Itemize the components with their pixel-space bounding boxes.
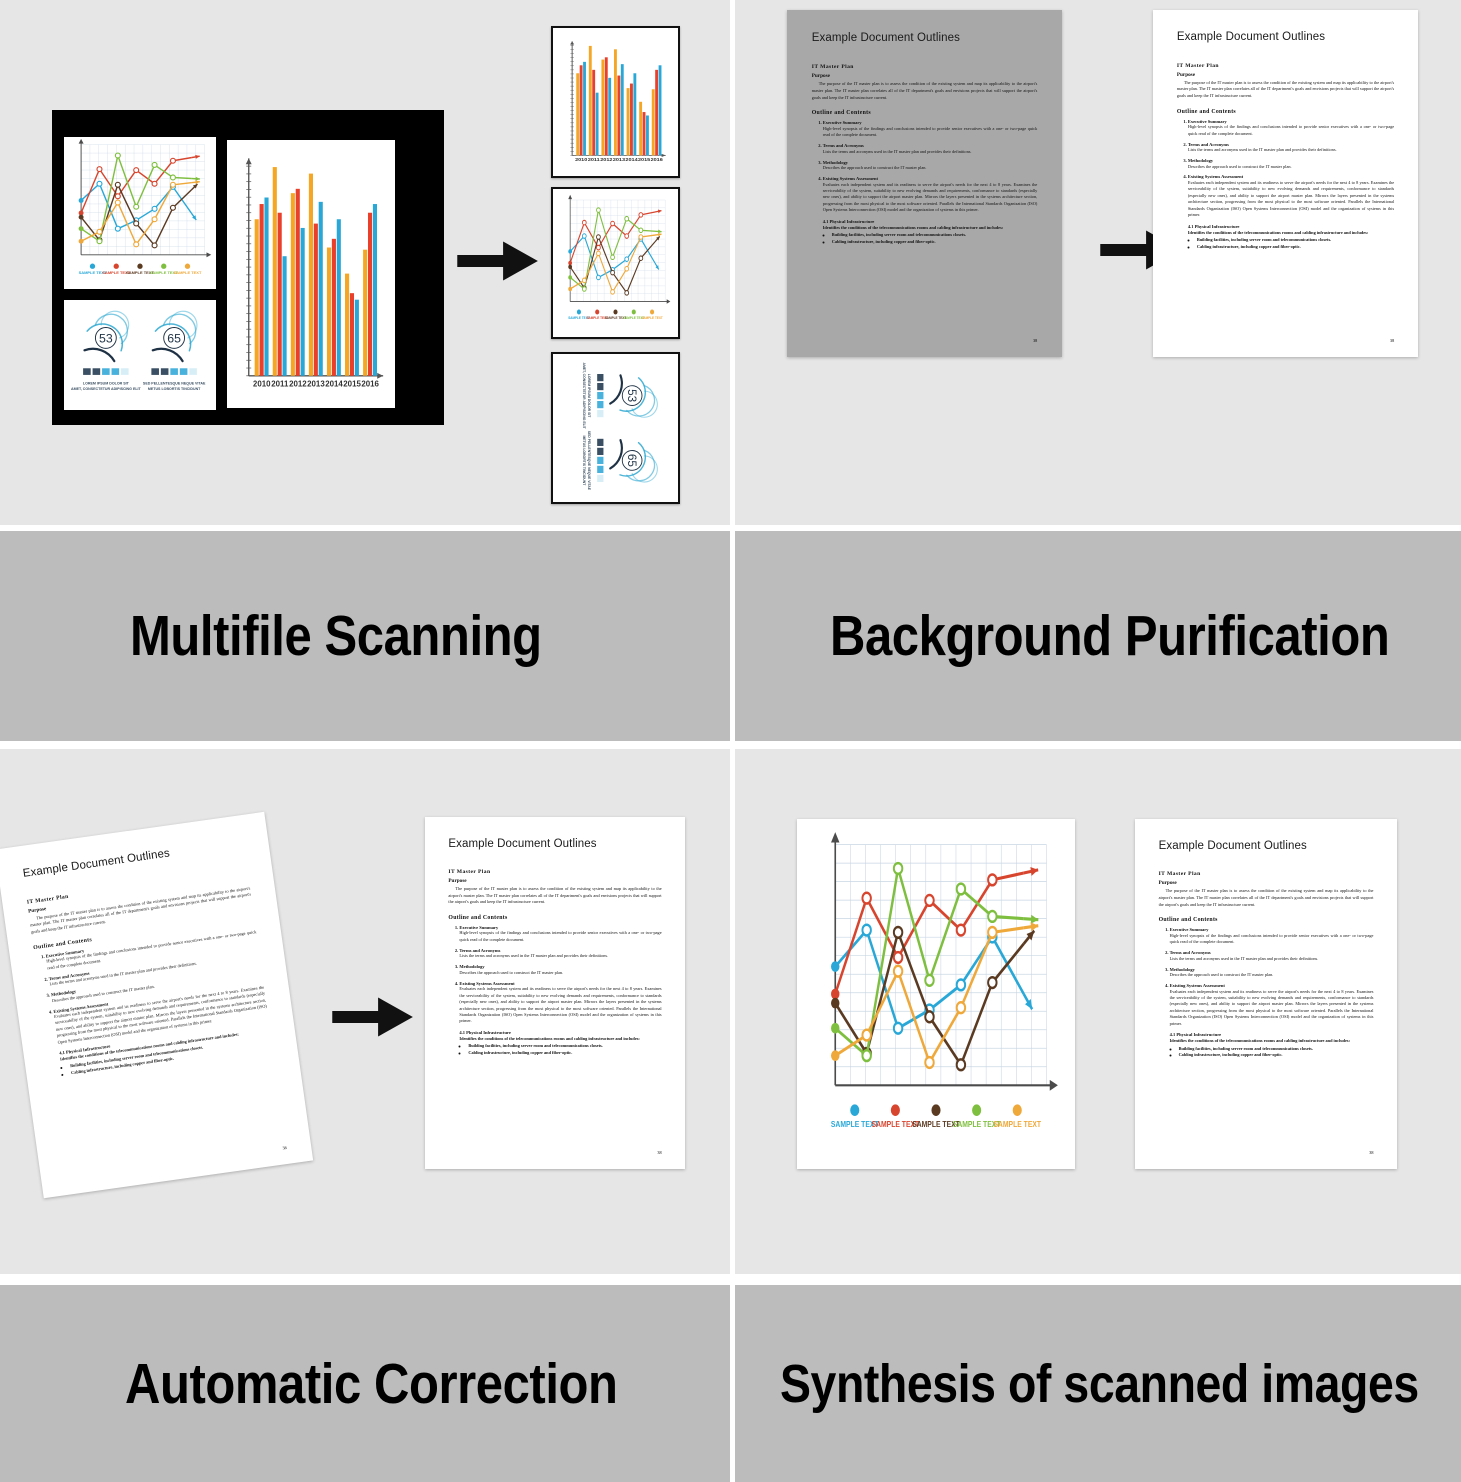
synthesis-line-chart-page[interactable]: SAMPLE TEXTSAMPLE TEXTSAMPLE TEXTSAMPLE … bbox=[797, 819, 1075, 1169]
caption-label: Automatic Correction bbox=[125, 1351, 618, 1417]
outline-item-body: Lists the terms and acronyms used in the… bbox=[1188, 147, 1394, 153]
svg-text:SAMPLE TEXT: SAMPLE TEXT bbox=[641, 316, 663, 320]
outline-item: Executive Summary High-level synopsis of… bbox=[1170, 927, 1374, 945]
outline-item-heading: Executive Summary bbox=[1170, 927, 1209, 932]
outline-item-body: Describes the approach used to construct… bbox=[459, 970, 661, 976]
outline-item: Methodology Describes the approach used … bbox=[1188, 158, 1394, 170]
outline-item-body: Describes the approach used to construct… bbox=[1188, 164, 1394, 170]
process-arrow bbox=[330, 989, 416, 1045]
caption-label: Multifile Scanning bbox=[130, 603, 542, 669]
outline-item: Terms and Acronyms Lists the terms and a… bbox=[459, 948, 661, 960]
doc-purpose-body: The purpose of the IT master plan is to … bbox=[1177, 80, 1394, 100]
subsection-body: Identifies the conditions of the telecom… bbox=[1188, 230, 1394, 236]
bar-chart: 2010201120122013201420152016 bbox=[227, 140, 395, 408]
panel-image-area: SAMPLE TEXTSAMPLE TEXTSAMPLE TEXTSAMPLE … bbox=[0, 0, 730, 525]
svg-text:2011: 2011 bbox=[588, 158, 600, 163]
doc-purpose-heading: Purpose bbox=[812, 73, 1038, 79]
outline-item-body: Describes the approach used to construct… bbox=[823, 165, 1038, 171]
skewed-page[interactable]: Example Document Outlines IT Master Plan… bbox=[0, 812, 313, 1198]
outline-item-body: High-level synopsis of the findings and … bbox=[1170, 933, 1374, 946]
svg-text:SED PELLENTESQUE NEQUE VITAE: SED PELLENTESQUE NEQUE VITAE bbox=[143, 381, 206, 385]
subsection-bullets: Building facilities, including server ro… bbox=[1170, 1046, 1374, 1060]
svg-text:SED PELLENTESQUE NEQUE VITAE: SED PELLENTESQUE NEQUE VITAE bbox=[587, 431, 591, 491]
svg-text:LOREM IPSUM DOLOR SIT: LOREM IPSUM DOLOR SIT bbox=[83, 381, 130, 385]
doc-purpose-heading: Purpose bbox=[1159, 880, 1374, 886]
doc-outline-list: Executive Summary High-level synopsis of… bbox=[1177, 119, 1394, 251]
outline-item: Executive Summary High-level synopsis of… bbox=[823, 120, 1038, 138]
outline-item: Terms and Acronyms Lists the terms and a… bbox=[823, 143, 1038, 155]
thumbnail-bar-chart[interactable]: 2010201120122013201420152016 bbox=[551, 26, 680, 178]
subsection-bullets: Building facilities, including server ro… bbox=[459, 1043, 661, 1057]
outline-item-heading: Existing Systems Assessment bbox=[459, 981, 514, 986]
scanned-page-gray[interactable]: Example Document Outlines IT Master Plan… bbox=[787, 10, 1062, 357]
doc-section-title: IT Master Plan bbox=[1177, 63, 1394, 69]
svg-text:2012: 2012 bbox=[289, 380, 307, 389]
outline-item-body: Lists the terms and acronyms used in the… bbox=[459, 953, 661, 959]
outline-item-heading: Terms and Acronyms bbox=[1170, 950, 1211, 955]
outline-item-heading: Executive Summary bbox=[823, 120, 862, 125]
doc-outline-list: Executive Summary High-level synopsis of… bbox=[34, 924, 272, 1079]
subsection-body: Identifies the conditions of the telecom… bbox=[1170, 1038, 1374, 1044]
line-chart: SAMPLE TEXTSAMPLE TEXTSAMPLE TEXTSAMPLE … bbox=[806, 828, 1066, 1160]
outline-item: Executive Summary High-level synopsis of… bbox=[459, 925, 661, 943]
doc-purpose-body: The purpose of the IT master plan is to … bbox=[812, 81, 1038, 101]
panel-caption: Multifile Scanning bbox=[0, 531, 730, 741]
svg-text:SAMPLE TEXT: SAMPLE TEXT bbox=[993, 1119, 1041, 1129]
svg-text:53: 53 bbox=[99, 331, 113, 345]
svg-text:2010: 2010 bbox=[575, 158, 588, 163]
svg-text:METUS LOBORTIS TINCIDUNT: METUS LOBORTIS TINCIDUNT bbox=[148, 387, 201, 391]
bar-chart: 2010201120122013201420152016 bbox=[557, 32, 674, 172]
svg-text:AMET, CONSECTETUR ADIPISCING E: AMET, CONSECTETUR ADIPISCING ELIT bbox=[71, 387, 142, 391]
bullet-item: Building facilities, including server ro… bbox=[1197, 237, 1394, 244]
outline-item-body: Lists the terms and acronyms used in the… bbox=[1170, 956, 1374, 962]
page-number: 38 bbox=[1390, 338, 1394, 343]
process-arrow bbox=[455, 233, 541, 289]
doc-purpose-body: The purpose of the IT master plan is to … bbox=[448, 886, 661, 906]
svg-text:AMET, CONSECTETUR ADIPISCING E: AMET, CONSECTETUR ADIPISCING ELIT bbox=[581, 362, 585, 429]
doc-outline-list: Executive Summary High-level synopsis of… bbox=[448, 925, 661, 1057]
outline-item-body: High-level synopsis of the findings and … bbox=[1188, 124, 1394, 137]
doc-title: Example Document Outlines bbox=[1159, 840, 1374, 852]
subsection-body: Identifies the conditions of the telecom… bbox=[823, 225, 1038, 231]
scanned-line-chart: SAMPLE TEXTSAMPLE TEXTSAMPLE TEXTSAMPLE … bbox=[64, 137, 216, 289]
page-number: 38 bbox=[657, 1150, 661, 1155]
outline-item: Existing Systems Assessment Evaluates ea… bbox=[823, 176, 1038, 246]
outline-item: Existing Systems Assessment Evaluates ea… bbox=[1170, 983, 1374, 1059]
multi-scan-black-frame: SAMPLE TEXTSAMPLE TEXTSAMPLE TEXTSAMPLE … bbox=[52, 110, 444, 425]
scanned-bar-chart: 2010201120122013201420152016 bbox=[227, 140, 395, 408]
doc-outline-heading: Outline and Contents bbox=[1177, 109, 1394, 115]
outline-item-body: Evaluates each independent system and it… bbox=[823, 182, 1038, 214]
outline-item: Existing Systems Assessment Evaluates ea… bbox=[459, 981, 661, 1057]
doc-title: Example Document Outlines bbox=[812, 32, 1038, 44]
panel-image-area: SAMPLE TEXTSAMPLE TEXTSAMPLE TEXTSAMPLE … bbox=[735, 749, 1461, 1274]
outline-item-body: High-level synopsis of the findings and … bbox=[823, 126, 1038, 139]
outline-item: Methodology Describes the approach used … bbox=[459, 964, 661, 976]
outline-item: Terms and Acronyms Lists the terms and a… bbox=[1188, 142, 1394, 154]
doc-section-title: IT Master Plan bbox=[1159, 871, 1374, 877]
doc-title: Example Document Outlines bbox=[448, 838, 661, 850]
line-chart: SAMPLE TEXTSAMPLE TEXTSAMPLE TEXTSAMPLE … bbox=[64, 137, 216, 289]
svg-text:LOREM IPSUM DOLOR SIT: LOREM IPSUM DOLOR SIT bbox=[587, 374, 591, 419]
synthesis-document-page[interactable]: Example Document Outlines IT Master Plan… bbox=[1135, 819, 1397, 1169]
doc-section-title: IT Master Plan bbox=[448, 869, 661, 875]
doc-outline-heading: Outline and Contents bbox=[1159, 917, 1374, 923]
doc-purpose-heading: Purpose bbox=[1177, 72, 1394, 78]
outline-item-body: Evaluates each independent system and it… bbox=[1188, 180, 1394, 219]
svg-text:METUS LOBORTIS TINCIDUNT: METUS LOBORTIS TINCIDUNT bbox=[581, 435, 585, 486]
caption-label: Synthesis of scanned images bbox=[780, 1353, 1419, 1415]
outline-item-heading: Terms and Acronyms bbox=[1188, 142, 1229, 147]
outline-item-body: Evaluates each independent system and it… bbox=[459, 986, 661, 1025]
outline-item-heading: Methodology bbox=[823, 160, 848, 165]
feature-grid: SAMPLE TEXTSAMPLE TEXTSAMPLE TEXTSAMPLE … bbox=[0, 0, 1461, 1482]
cleaned-page-white[interactable]: Example Document Outlines IT Master Plan… bbox=[1153, 10, 1418, 357]
outline-item-heading: Terms and Acronyms bbox=[823, 143, 864, 148]
svg-text:2010: 2010 bbox=[253, 380, 271, 389]
subsection-heading: 4.1 Physical Infrastructure bbox=[1188, 224, 1394, 229]
subsection-bullets: Building facilities, including server ro… bbox=[1188, 237, 1394, 251]
outline-item-body: Describes the approach used to construct… bbox=[1170, 972, 1374, 978]
svg-text:2015: 2015 bbox=[638, 158, 651, 163]
bullet-item: Cabling infrastructure, including copper… bbox=[468, 1050, 661, 1057]
svg-text:2012: 2012 bbox=[600, 158, 613, 163]
svg-text:53: 53 bbox=[625, 389, 638, 402]
outline-item-heading: Methodology bbox=[1170, 967, 1195, 972]
line-chart: SAMPLE TEXTSAMPLE TEXTSAMPLE TEXTSAMPLE … bbox=[557, 193, 674, 333]
outline-item-heading: Existing Systems Assessment bbox=[1188, 174, 1243, 179]
svg-text:2013: 2013 bbox=[307, 380, 325, 389]
doc-purpose-heading: Purpose bbox=[448, 878, 661, 884]
svg-text:2014: 2014 bbox=[325, 380, 343, 389]
svg-text:2014: 2014 bbox=[625, 158, 638, 163]
doc-outline-heading: Outline and Contents bbox=[448, 915, 661, 921]
bullet-item: Building facilities, including server ro… bbox=[832, 232, 1038, 239]
bullet-item: Cabling infrastructure, including copper… bbox=[1197, 244, 1394, 251]
panel-multifile-scanning: SAMPLE TEXTSAMPLE TEXTSAMPLE TEXTSAMPLE … bbox=[0, 0, 730, 741]
bullet-item: Building facilities, including server ro… bbox=[1179, 1046, 1374, 1053]
doc-title: Example Document Outlines bbox=[1177, 31, 1394, 43]
bullet-item: Cabling infrastructure, including copper… bbox=[832, 239, 1038, 246]
subsection-heading: 4.1 Physical Infrastructure bbox=[823, 219, 1038, 224]
outline-item-body: High-level synopsis of the findings and … bbox=[459, 930, 661, 943]
doc-purpose-body: The purpose of the IT master plan is to … bbox=[1159, 888, 1374, 908]
doc-outline-list: Executive Summary High-level synopsis of… bbox=[1159, 927, 1374, 1059]
gauge-chart: 53LOREM IPSUM DOLOR SITAMET, CONSECTETUR… bbox=[64, 300, 216, 410]
thumbnail-line-chart[interactable]: SAMPLE TEXTSAMPLE TEXTSAMPLE TEXTSAMPLE … bbox=[551, 187, 680, 339]
caption-label: Background Purification bbox=[830, 603, 1389, 669]
svg-text:2016: 2016 bbox=[651, 158, 664, 163]
outline-item-heading: Methodology bbox=[459, 964, 484, 969]
outline-item-heading: Existing Systems Assessment bbox=[1170, 983, 1225, 988]
page-number: 38 bbox=[1033, 338, 1037, 343]
outline-item-heading: Existing Systems Assessment bbox=[823, 176, 878, 181]
bullet-item: Cabling infrastructure, including copper… bbox=[1179, 1052, 1374, 1059]
page-number: 38 bbox=[1369, 1150, 1373, 1155]
outline-item-heading: Executive Summary bbox=[459, 925, 498, 930]
outline-item-body: Evaluates each independent system and it… bbox=[1170, 989, 1374, 1028]
subsection-body: Identifies the conditions of the telecom… bbox=[459, 1036, 661, 1042]
doc-section-title: IT Master Plan bbox=[812, 64, 1038, 70]
subsection-bullets: Building facilities, including server ro… bbox=[823, 232, 1038, 246]
outline-item: Executive Summary High-level synopsis of… bbox=[1188, 119, 1394, 137]
page-number: 38 bbox=[282, 1145, 287, 1151]
outline-item: Methodology Describes the approach used … bbox=[1170, 967, 1374, 979]
panel-synthesis-of-scanned-images: SAMPLE TEXTSAMPLE TEXTSAMPLE TEXTSAMPLE … bbox=[730, 741, 1461, 1482]
panel-image-area: Example Document Outlines IT Master Plan… bbox=[735, 0, 1461, 525]
outline-item-body: Lists the terms and acronyms used in the… bbox=[823, 149, 1038, 155]
svg-text:2013: 2013 bbox=[613, 158, 626, 163]
subsection-heading: 4.1 Physical Infrastructure bbox=[1170, 1032, 1374, 1037]
bullet-item: Building facilities, including server ro… bbox=[468, 1043, 661, 1050]
outline-item: Terms and Acronyms Lists the terms and a… bbox=[1170, 950, 1374, 962]
panel-background-purification: Example Document Outlines IT Master Plan… bbox=[730, 0, 1461, 741]
corrected-page[interactable]: Example Document Outlines IT Master Plan… bbox=[425, 817, 685, 1169]
svg-text:2015: 2015 bbox=[343, 380, 361, 389]
panel-caption: Synthesis of scanned images bbox=[735, 1285, 1461, 1482]
scanned-gauge-pair: 53LOREM IPSUM DOLOR SITAMET, CONSECTETUR… bbox=[64, 300, 216, 410]
outline-item-heading: Methodology bbox=[1188, 158, 1213, 163]
outline-item-heading: Executive Summary bbox=[1188, 119, 1227, 124]
subsection-heading: 4.1 Physical Infrastructure bbox=[459, 1030, 661, 1035]
panel-image-area: Example Document Outlines IT Master Plan… bbox=[0, 749, 730, 1274]
outline-item-heading: Terms and Acronyms bbox=[459, 948, 500, 953]
panel-caption: Automatic Correction bbox=[0, 1285, 730, 1482]
svg-text:SAMPLE TEXT: SAMPLE TEXT bbox=[174, 270, 202, 275]
svg-text:65: 65 bbox=[625, 454, 638, 467]
svg-text:65: 65 bbox=[167, 331, 181, 345]
gauge-chart: 53LOREM IPSUM DOLOR SITAMET, CONSECTETUR… bbox=[564, 358, 668, 498]
outline-item: Existing Systems Assessment Evaluates ea… bbox=[1188, 174, 1394, 250]
doc-outline-heading: Outline and Contents bbox=[812, 110, 1038, 116]
panel-automatic-correction: Example Document Outlines IT Master Plan… bbox=[0, 741, 730, 1482]
svg-text:2016: 2016 bbox=[361, 380, 379, 389]
svg-text:2011: 2011 bbox=[271, 380, 289, 389]
thumbnail-gauge-pair[interactable]: 53LOREM IPSUM DOLOR SITAMET, CONSECTETUR… bbox=[551, 352, 680, 504]
panel-caption: Background Purification bbox=[735, 531, 1461, 741]
doc-outline-list: Executive Summary High-level synopsis of… bbox=[812, 120, 1038, 246]
outline-item: Methodology Describes the approach used … bbox=[823, 160, 1038, 172]
